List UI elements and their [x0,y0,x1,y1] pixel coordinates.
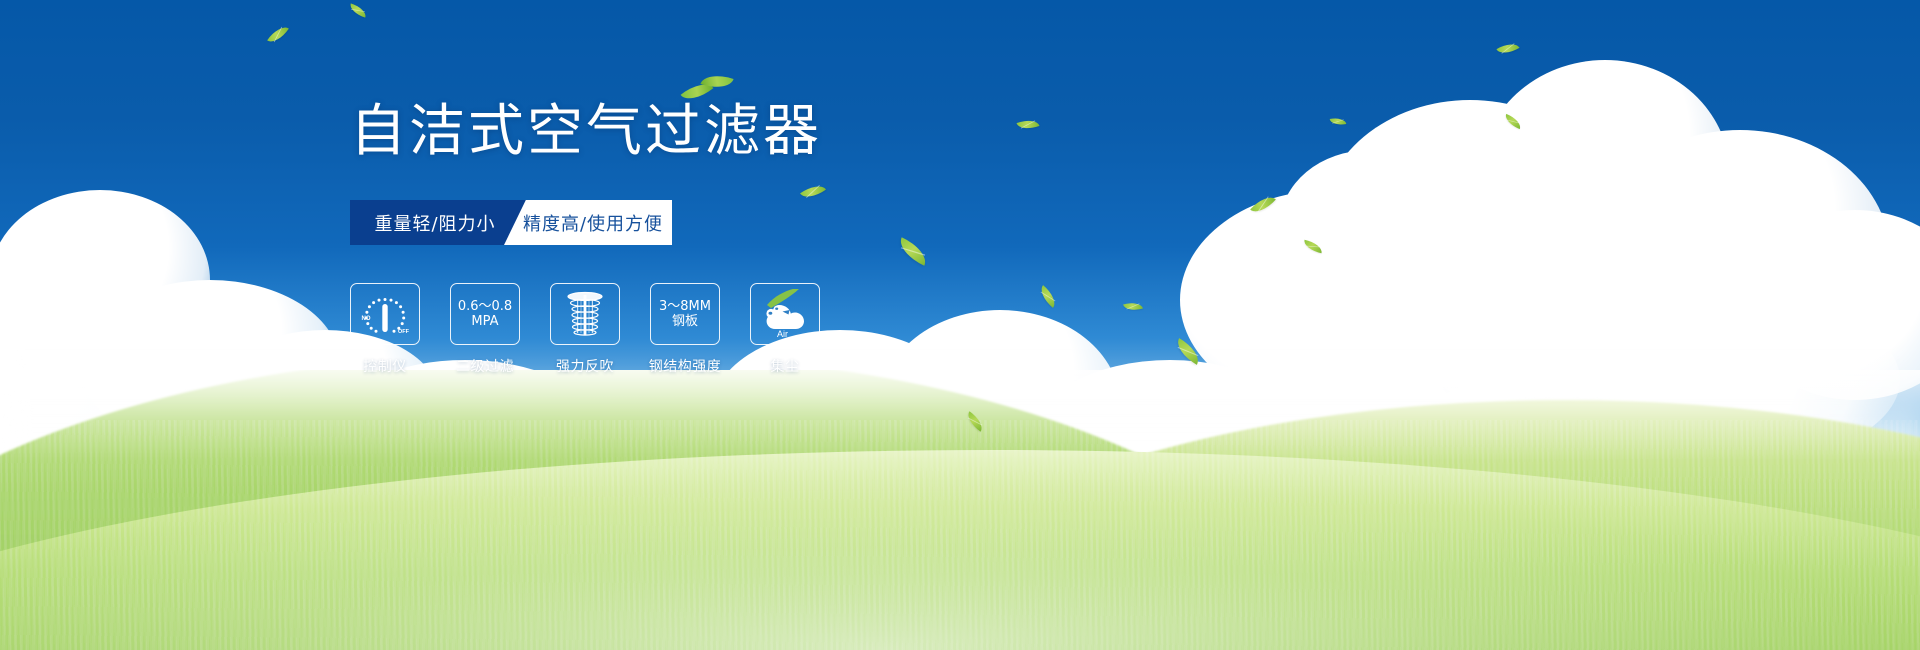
feature-list: NO OFF 控制仪 0.6～0.8 MPA 二级过滤 [350,283,1050,376]
banner-content: 自洁式空气过滤器 重量轻/阻力小 精度高/使用方便 [350,98,1050,376]
tab-precision-easyuse[interactable]: 精度高/使用方便 [504,200,672,245]
feature-label: 控制仪 [363,356,407,376]
feature-icon-box: 0.6～0.8 MPA [450,283,520,345]
title-row: 自洁式空气过滤器 [350,98,1050,170]
svg-text:NO: NO [362,316,371,322]
feature-label: 钢结构强度 [649,356,722,376]
feature-icon-box: NO OFF [350,283,420,345]
svg-text:OFF: OFF [398,329,410,335]
feature-item-controller[interactable]: NO OFF 控制仪 [350,283,420,376]
title-leaf-decoration [680,70,740,108]
pressure-unit: MPA [458,314,512,329]
feature-item-strong-blowback[interactable]: 强力反吹 [550,283,620,376]
pressure-text-icon: 0.6～0.8 MPA [458,299,512,329]
grass-field [0,370,1920,650]
page-title: 自洁式空气过滤器 [350,98,1050,166]
blowback-filter-icon [561,290,609,338]
steel-plate-text-icon: 3～8MM 钢板 [659,299,711,329]
pressure-range: 0.6～0.8 [458,299,512,314]
horizon-glow [0,370,1920,460]
feature-icon-box: Air [750,283,820,345]
feature-item-secondary-filtration[interactable]: 0.6～0.8 MPA 二级过滤 [450,283,520,376]
steel-material: 钢板 [659,314,711,329]
feature-label: 集尘 [771,356,800,376]
feature-label: 强力反吹 [556,356,614,376]
feature-icon-box [550,283,620,345]
feature-item-steel-strength[interactable]: 3～8MM 钢板 钢结构强度 [650,283,720,376]
air-cloud-icon: Air [757,289,813,339]
feature-label: 二级过滤 [456,356,514,376]
steel-thickness: 3～8MM [659,299,711,314]
feature-icon-box: 3～8MM 钢板 [650,283,720,345]
tab-lightweight-lowresistance[interactable]: 重量轻/阻力小 [350,200,526,245]
feature-tabs: 重量轻/阻力小 精度高/使用方便 [350,200,672,245]
gauge-dial-icon: NO OFF [357,291,413,337]
air-caption: Air [777,329,788,339]
feature-item-dust-collection[interactable]: Air 集尘 [750,283,820,376]
hero-banner: 自洁式空气过滤器 重量轻/阻力小 精度高/使用方便 [0,0,1920,650]
grass-highlight [0,460,1920,650]
